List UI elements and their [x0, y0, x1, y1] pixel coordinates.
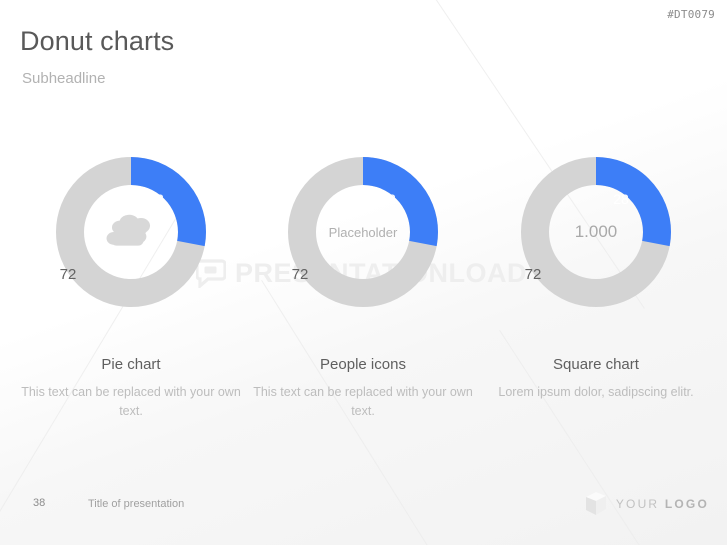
caption-title-square-chart: Square chart [480, 356, 712, 373]
chart-column-pie-chart: 28 72 [15, 152, 247, 422]
donut-center-pie-chart [51, 152, 211, 312]
donut-center-people-icons: Placeholder [283, 152, 443, 312]
footer-title: Title of presentation [88, 498, 184, 510]
donut-chart-square-chart[interactable]: 28 72 1.000 [516, 152, 676, 312]
caption-body-square-chart: Lorem ipsum dolor, sadipscing elitr. [480, 383, 712, 402]
slide-canvas: #DT0079 Donut charts Subheadline PRESENT… [0, 0, 727, 545]
page-number: 38 [33, 497, 45, 509]
donut-center-label: Placeholder [329, 225, 398, 240]
cube-logo-icon [585, 491, 607, 516]
donut-center-square-chart: 1.000 [516, 152, 676, 312]
caption-title-pie-chart: Pie chart [15, 356, 247, 373]
chart-columns: 28 72 [0, 0, 727, 545]
caption-title-people-icons: People icons [247, 356, 479, 373]
logo-word-1: YOUR [616, 497, 659, 511]
caption-body-people-icons: This text can be replaced with your own … [247, 383, 479, 422]
caption-body-pie-chart: This text can be replaced with your own … [15, 383, 247, 422]
donut-chart-pie-chart[interactable]: 28 72 [51, 152, 211, 312]
chart-column-people-icons: 28 72 Placeholder People icons This text… [247, 152, 479, 422]
footer-divider [0, 470, 727, 471]
chart-column-square-chart: 28 72 1.000 Square chart Lorem ipsum dol… [480, 152, 712, 402]
donut-chart-people-icons[interactable]: 28 72 Placeholder [283, 152, 443, 312]
donut-center-label: 1.000 [575, 222, 618, 242]
cloud-icon [102, 211, 160, 253]
logo-placeholder[interactable]: YOUR LOGO [585, 491, 709, 516]
logo-text: YOUR LOGO [616, 497, 709, 511]
logo-word-2: LOGO [665, 497, 709, 511]
